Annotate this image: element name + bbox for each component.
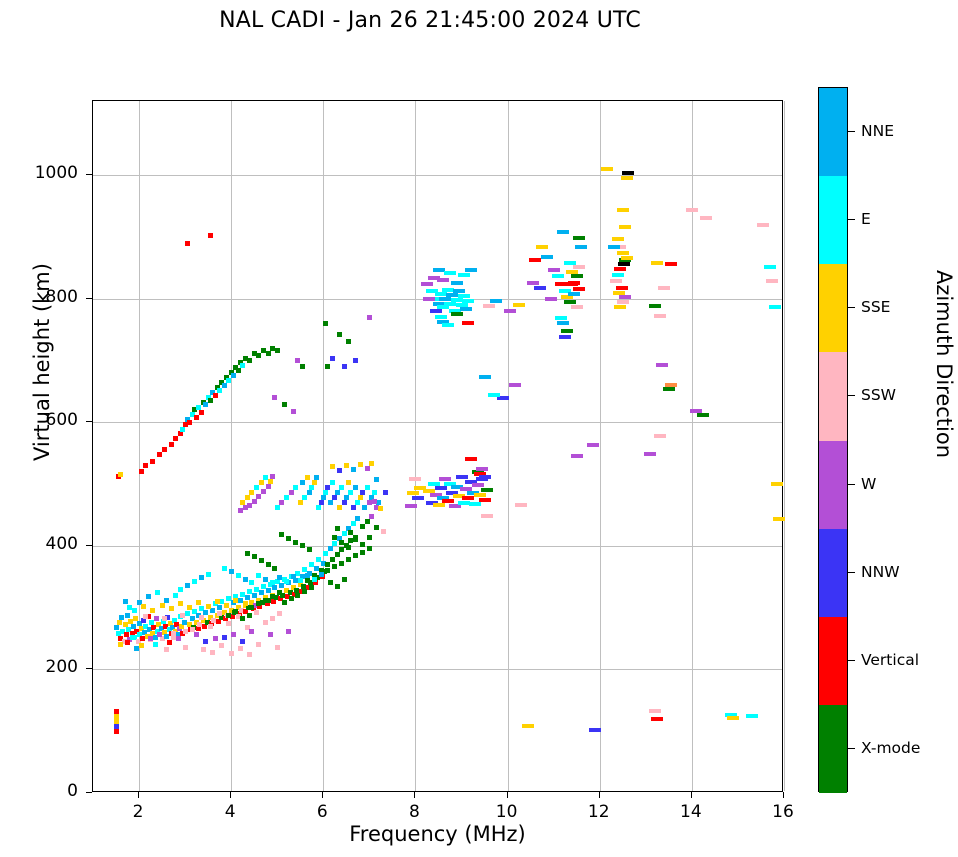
- echo-point: [555, 282, 567, 286]
- y-tick: [86, 545, 92, 546]
- colorbar-tick: [848, 307, 855, 308]
- echo-point: [555, 316, 567, 320]
- echo-point: [155, 590, 160, 595]
- echo-point: [421, 282, 433, 286]
- echo-point: [453, 289, 465, 293]
- echo-point: [444, 271, 456, 275]
- echo-point: [272, 395, 277, 400]
- echo-point: [644, 452, 656, 456]
- echo-point: [571, 454, 583, 458]
- echo-point: [346, 480, 351, 485]
- x-tick-label: 4: [200, 802, 260, 822]
- echo-point: [222, 566, 227, 571]
- echo-point: [266, 484, 271, 489]
- echo-point: [490, 299, 502, 303]
- echo-point: [328, 500, 333, 505]
- colorbar-segment-nne[interactable]: [819, 88, 847, 176]
- echo-point: [651, 717, 663, 721]
- echo-point: [119, 615, 124, 620]
- echo-point: [309, 485, 314, 490]
- echo-point: [187, 420, 192, 425]
- colorbar-tick: [848, 660, 855, 661]
- x-tick: [414, 792, 415, 798]
- echo-point: [573, 236, 585, 240]
- echo-point: [270, 474, 275, 479]
- echo-point: [374, 525, 379, 530]
- echo-point: [229, 569, 234, 574]
- echo-point: [300, 364, 305, 369]
- echo-point: [617, 208, 629, 212]
- echo-point: [263, 577, 268, 582]
- echo-point: [342, 531, 347, 536]
- echo-point: [339, 540, 344, 545]
- echo-point: [243, 601, 248, 606]
- echo-point: [266, 351, 271, 356]
- echo-point: [769, 305, 781, 309]
- echo-point: [206, 572, 211, 577]
- echo-point: [344, 463, 349, 468]
- y-tick-label: 200: [8, 657, 78, 677]
- echo-point: [293, 540, 298, 545]
- echo-point: [476, 467, 488, 471]
- echo-point: [472, 483, 484, 487]
- echo-point: [240, 639, 245, 644]
- echo-point: [474, 493, 486, 497]
- echo-point: [199, 615, 204, 620]
- echo-point: [337, 468, 342, 473]
- x-tick-label: 10: [477, 802, 537, 822]
- echo-point: [231, 632, 236, 637]
- echo-point: [412, 496, 424, 500]
- echo-point: [176, 636, 181, 641]
- echo-point: [409, 477, 421, 481]
- echo-point: [240, 363, 245, 368]
- echo-point: [332, 541, 337, 546]
- echo-point: [444, 302, 456, 306]
- echo-point: [465, 268, 477, 272]
- echo-point: [618, 262, 630, 266]
- echo-point: [286, 629, 291, 634]
- echo-point: [173, 593, 178, 598]
- echo-point: [378, 506, 383, 511]
- echo-point: [332, 495, 337, 500]
- echo-point: [573, 265, 585, 269]
- echo-point: [275, 348, 280, 353]
- echo-point: [247, 613, 252, 618]
- echo-point: [483, 304, 495, 308]
- echo-point: [435, 315, 447, 319]
- echo-point: [314, 475, 319, 480]
- echo-point: [295, 358, 300, 363]
- echo-point: [348, 530, 353, 535]
- echo-point: [622, 171, 634, 175]
- echo-point: [568, 281, 580, 285]
- echo-point: [608, 245, 620, 249]
- echo-point: [746, 714, 758, 718]
- echo-point: [325, 562, 330, 567]
- echo-point: [479, 375, 491, 379]
- echo-point: [114, 625, 119, 630]
- echo-point: [573, 287, 585, 291]
- echo-point: [148, 636, 153, 641]
- echo-point: [458, 294, 470, 298]
- echo-point: [154, 616, 159, 621]
- echo-point: [279, 532, 284, 537]
- echo-point: [219, 643, 224, 648]
- echo-point: [360, 542, 365, 547]
- echo-point: [323, 321, 328, 326]
- echo-point: [263, 598, 268, 603]
- echo-point: [458, 501, 470, 505]
- echo-point: [231, 373, 236, 378]
- echo-point: [215, 599, 220, 604]
- echo-point: [194, 415, 199, 420]
- x-tick: [691, 792, 692, 798]
- echo-point: [325, 364, 330, 369]
- colorbar-tick: [848, 395, 855, 396]
- echo-point: [614, 305, 626, 309]
- echo-point: [319, 500, 324, 505]
- echo-point: [663, 387, 675, 391]
- echo-point: [488, 393, 500, 397]
- echo-point: [150, 608, 155, 613]
- x-tick: [783, 792, 784, 798]
- echo-point: [348, 490, 353, 495]
- echo-point: [649, 709, 661, 713]
- echo-point: [552, 274, 564, 278]
- echo-point: [312, 577, 317, 582]
- echo-point: [335, 552, 340, 557]
- echo-point: [217, 388, 222, 393]
- echo-point: [332, 564, 337, 569]
- echo-point: [365, 485, 370, 490]
- echo-point: [277, 575, 282, 580]
- echo-point: [479, 498, 491, 502]
- echo-point: [185, 241, 190, 246]
- echo-point: [259, 558, 264, 563]
- echo-point: [201, 647, 206, 652]
- echo-point: [245, 551, 250, 556]
- y-tick-label: 400: [8, 534, 78, 554]
- echo-point: [295, 593, 300, 598]
- echo-point: [282, 600, 287, 605]
- y-tick-label: 1000: [8, 163, 78, 183]
- echo-point: [548, 268, 560, 272]
- echo-point: [208, 398, 213, 403]
- echo-point: [451, 281, 463, 285]
- echo-point: [469, 502, 481, 506]
- echo-point: [654, 314, 666, 318]
- echo-point: [351, 467, 356, 472]
- echo-point: [339, 485, 344, 490]
- echo-point: [187, 605, 192, 610]
- echo-point: [372, 499, 377, 504]
- echo-point: [369, 461, 374, 466]
- echo-point: [233, 609, 238, 614]
- echo-point: [344, 495, 349, 500]
- echo-point: [300, 543, 305, 548]
- echo-point: [342, 364, 347, 369]
- echo-point: [210, 650, 215, 655]
- echo-point: [612, 237, 624, 241]
- echo-point: [139, 643, 144, 648]
- echo-point: [426, 289, 438, 293]
- echo-point: [764, 265, 776, 269]
- y-tick: [86, 792, 92, 793]
- echo-point: [353, 537, 358, 542]
- echo-point: [617, 300, 629, 304]
- echo-point: [619, 225, 631, 229]
- echo-point: [328, 580, 333, 585]
- echo-point: [665, 262, 677, 266]
- echo-point: [302, 589, 307, 594]
- colorbar-tick: [848, 484, 855, 485]
- x-tick-label: 6: [292, 802, 352, 822]
- colorbar-segment-sse[interactable]: [819, 264, 847, 352]
- echo-point: [164, 647, 169, 652]
- colorbar-label-w: W: [861, 475, 876, 493]
- echo-point: [203, 639, 208, 644]
- y-tick-label: 0: [8, 781, 78, 801]
- echo-point: [360, 524, 365, 529]
- echo-point: [335, 490, 340, 495]
- echo-point: [291, 574, 296, 579]
- x-tick: [322, 792, 323, 798]
- echo-point: [442, 288, 454, 292]
- echo-point: [206, 604, 211, 609]
- echo-point: [568, 292, 580, 296]
- echo-point: [226, 378, 231, 383]
- echo-point: [690, 409, 702, 413]
- echo-point: [433, 268, 445, 272]
- colorbar-tick: [848, 748, 855, 749]
- colorbar-segment-nnw[interactable]: [819, 529, 847, 617]
- echo-point: [282, 402, 287, 407]
- echo-point: [610, 279, 622, 283]
- colorbar-segment-w[interactable]: [819, 441, 847, 529]
- echo-point: [376, 500, 381, 505]
- echo-point: [407, 491, 419, 495]
- echo-point: [575, 245, 587, 249]
- colorbar[interactable]: [818, 87, 848, 792]
- echo-point: [160, 603, 165, 608]
- echo-point: [325, 485, 330, 490]
- echo-point: [150, 459, 155, 464]
- echo-point: [557, 321, 569, 325]
- echo-point: [252, 554, 257, 559]
- x-axis-label: Frequency (MHz): [92, 822, 783, 846]
- echo-point: [275, 505, 280, 510]
- echo-point: [247, 358, 252, 363]
- echo-point: [439, 297, 451, 301]
- echo-point: [196, 600, 201, 605]
- echo-point: [446, 293, 458, 297]
- echo-point: [365, 466, 370, 471]
- echo-point: [162, 616, 167, 621]
- echo-point: [254, 610, 259, 615]
- echo-point: [451, 312, 463, 316]
- echo-point: [123, 599, 128, 604]
- echo-point: [330, 480, 335, 485]
- echo-point: [337, 505, 342, 510]
- echo-point: [369, 514, 374, 519]
- echo-point: [323, 490, 328, 495]
- echo-point: [114, 719, 119, 724]
- echo-point: [462, 321, 474, 325]
- echo-point: [564, 300, 576, 304]
- echo-point: [559, 335, 571, 339]
- echo-point: [256, 573, 261, 578]
- echo-point: [222, 383, 227, 388]
- echo-point: [143, 614, 148, 619]
- echo-point: [217, 611, 222, 616]
- colorbar-label-sse: SSE: [861, 298, 890, 316]
- echo-point: [435, 486, 447, 490]
- echo-point: [252, 499, 257, 504]
- echo-point: [621, 176, 633, 180]
- echo-point: [169, 442, 174, 447]
- colorbar-tick: [848, 131, 855, 132]
- echo-point: [249, 490, 254, 495]
- echo-point: [157, 452, 162, 457]
- echo-point: [309, 585, 314, 590]
- echo-point: [302, 495, 307, 500]
- x-tick-label: 16: [753, 802, 813, 822]
- echo-point: [169, 606, 174, 611]
- echo-point: [353, 358, 358, 363]
- echo-point: [358, 462, 363, 467]
- echo-point: [118, 472, 123, 477]
- echo-point: [185, 583, 190, 588]
- echo-point: [374, 477, 379, 482]
- echo-point: [238, 646, 243, 651]
- echo-point: [439, 477, 451, 481]
- echo-point: [564, 261, 576, 265]
- echo-point: [365, 519, 370, 524]
- echo-point: [442, 323, 454, 327]
- echo-point: [261, 489, 266, 494]
- echo-point: [256, 601, 261, 606]
- echo-point: [381, 529, 386, 534]
- colorbar-segment-vertical[interactable]: [819, 617, 847, 705]
- echo-point: [481, 514, 493, 518]
- colorbar-segment-x-mode[interactable]: [819, 705, 847, 793]
- echo-point: [360, 550, 365, 555]
- echo-point: [199, 575, 204, 580]
- echo-point: [263, 620, 268, 625]
- echo-point: [566, 270, 578, 274]
- echo-point: [330, 464, 335, 469]
- echo-point: [298, 578, 303, 583]
- echo-point: [414, 486, 426, 490]
- echo-point: [613, 291, 625, 295]
- echo-point: [247, 652, 252, 657]
- echo-point: [270, 594, 275, 599]
- echo-point: [114, 709, 119, 714]
- echo-point: [328, 546, 333, 551]
- x-tick: [230, 792, 231, 798]
- echo-point: [180, 613, 185, 618]
- echo-point: [157, 632, 162, 637]
- x-tick-label: 8: [384, 802, 444, 822]
- echo-point: [286, 536, 291, 541]
- echo-point: [289, 490, 294, 495]
- echo-point: [358, 495, 363, 500]
- echo-point: [658, 286, 670, 290]
- echo-point: [372, 490, 377, 495]
- colorbar-label-e: E: [861, 210, 871, 228]
- echo-point: [342, 577, 347, 582]
- echo-point: [545, 297, 557, 301]
- echo-point: [300, 480, 305, 485]
- colorbar-label-x-mode: X-mode: [861, 739, 920, 757]
- echo-point: [766, 279, 778, 283]
- x-tick-label: 12: [569, 802, 629, 822]
- echo-point: [266, 562, 271, 567]
- echo-point: [513, 303, 525, 307]
- echo-point: [298, 500, 303, 505]
- echo-point: [430, 309, 442, 313]
- echo-point: [213, 393, 218, 398]
- echo-point: [534, 286, 546, 290]
- colorbar-segment-ssw[interactable]: [819, 352, 847, 440]
- echo-point: [601, 167, 613, 171]
- echo-point: [355, 516, 360, 521]
- echo-point: [289, 596, 294, 601]
- echo-point: [173, 436, 178, 441]
- echo-point: [307, 490, 312, 495]
- colorbar-segment-e[interactable]: [819, 176, 847, 264]
- echo-point: [355, 500, 360, 505]
- x-tick-label: 14: [661, 802, 721, 822]
- echo-point: [118, 642, 123, 647]
- echo-point: [224, 603, 229, 608]
- gridline-vertical: [784, 101, 785, 791]
- y-tick: [86, 421, 92, 422]
- y-axis-label: Virtual height (km): [30, 222, 54, 502]
- echo-point: [141, 604, 146, 609]
- echo-point: [194, 632, 199, 637]
- echo-point: [275, 645, 280, 650]
- colorbar-label-nnw: NNW: [861, 563, 900, 581]
- echo-point: [268, 632, 273, 637]
- echo-point: [614, 267, 626, 271]
- echo-point: [114, 714, 119, 719]
- echo-point: [178, 587, 183, 592]
- echo-point: [700, 216, 712, 220]
- echo-point: [233, 598, 238, 603]
- echo-point: [180, 427, 185, 432]
- echo-point: [335, 526, 340, 531]
- echo-point: [541, 255, 553, 259]
- echo-point: [249, 580, 254, 585]
- echo-point: [208, 624, 213, 629]
- echo-point: [153, 642, 158, 647]
- echo-point: [465, 457, 477, 461]
- echo-point: [481, 488, 493, 492]
- echo-point: [117, 620, 122, 625]
- echo-point: [335, 584, 340, 589]
- echo-point: [346, 557, 351, 562]
- echo-point: [249, 605, 254, 610]
- echo-point: [649, 304, 661, 308]
- echo-point: [130, 635, 135, 640]
- echo-point: [293, 485, 298, 490]
- echo-point: [367, 315, 372, 320]
- echo-point: [561, 329, 573, 333]
- colorbar-tick: [848, 219, 855, 220]
- echo-point: [270, 580, 275, 585]
